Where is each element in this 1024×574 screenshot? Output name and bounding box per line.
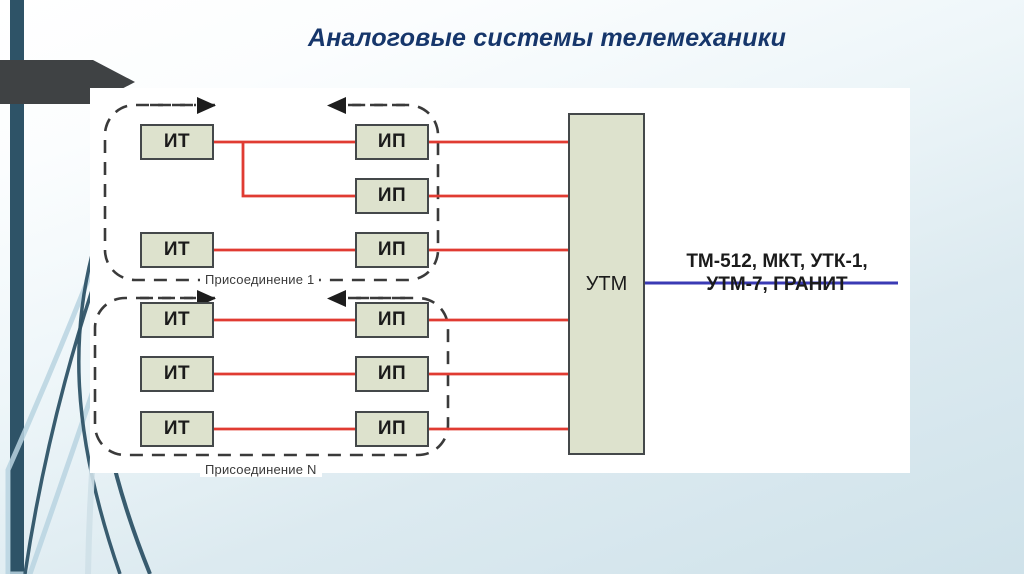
unit-label: ИП (378, 239, 406, 261)
unit-label: ИП (378, 185, 406, 207)
unit-label: ИП (378, 363, 406, 385)
utm-annotation: ТМ-512, МКТ, УТК-1, УТМ-7, ГРАНИТ (652, 250, 902, 296)
group-2-caption: Присоединение N (200, 462, 322, 477)
unit-it-g2-3[interactable]: ИТ (140, 411, 214, 447)
slide: Аналоговые системы телемеханики (0, 0, 1024, 574)
utm-annotation-line-1: ТМ-512, МКТ, УТК-1, (652, 250, 902, 273)
unit-it-g2-1[interactable]: ИТ (140, 302, 214, 338)
unit-ip-g2-3[interactable]: ИП (355, 411, 429, 447)
utm-annotation-line-2: УТМ-7, ГРАНИТ (652, 273, 902, 296)
unit-label: ИТ (164, 309, 190, 331)
page-title: Аналоговые системы телемеханики (0, 24, 1024, 53)
unit-label: ИТ (164, 418, 190, 440)
unit-label: ИП (378, 131, 406, 153)
unit-ip-g1-2[interactable]: ИП (355, 178, 429, 214)
utm-block[interactable]: УТМ (568, 113, 645, 455)
utm-label: УТМ (586, 273, 628, 296)
unit-it-g1-1[interactable]: ИТ (140, 124, 214, 160)
unit-label: ИТ (164, 131, 190, 153)
group-1-caption: Присоединение 1 (200, 272, 319, 287)
unit-ip-g2-1[interactable]: ИП (355, 302, 429, 338)
unit-it-g1-2[interactable]: ИТ (140, 232, 214, 268)
unit-ip-g2-2[interactable]: ИП (355, 356, 429, 392)
unit-label: ИТ (164, 363, 190, 385)
unit-ip-g1-1[interactable]: ИП (355, 124, 429, 160)
unit-label: ИП (378, 309, 406, 331)
unit-label: ИТ (164, 239, 190, 261)
unit-ip-g1-3[interactable]: ИП (355, 232, 429, 268)
unit-label: ИП (378, 418, 406, 440)
unit-it-g2-2[interactable]: ИТ (140, 356, 214, 392)
